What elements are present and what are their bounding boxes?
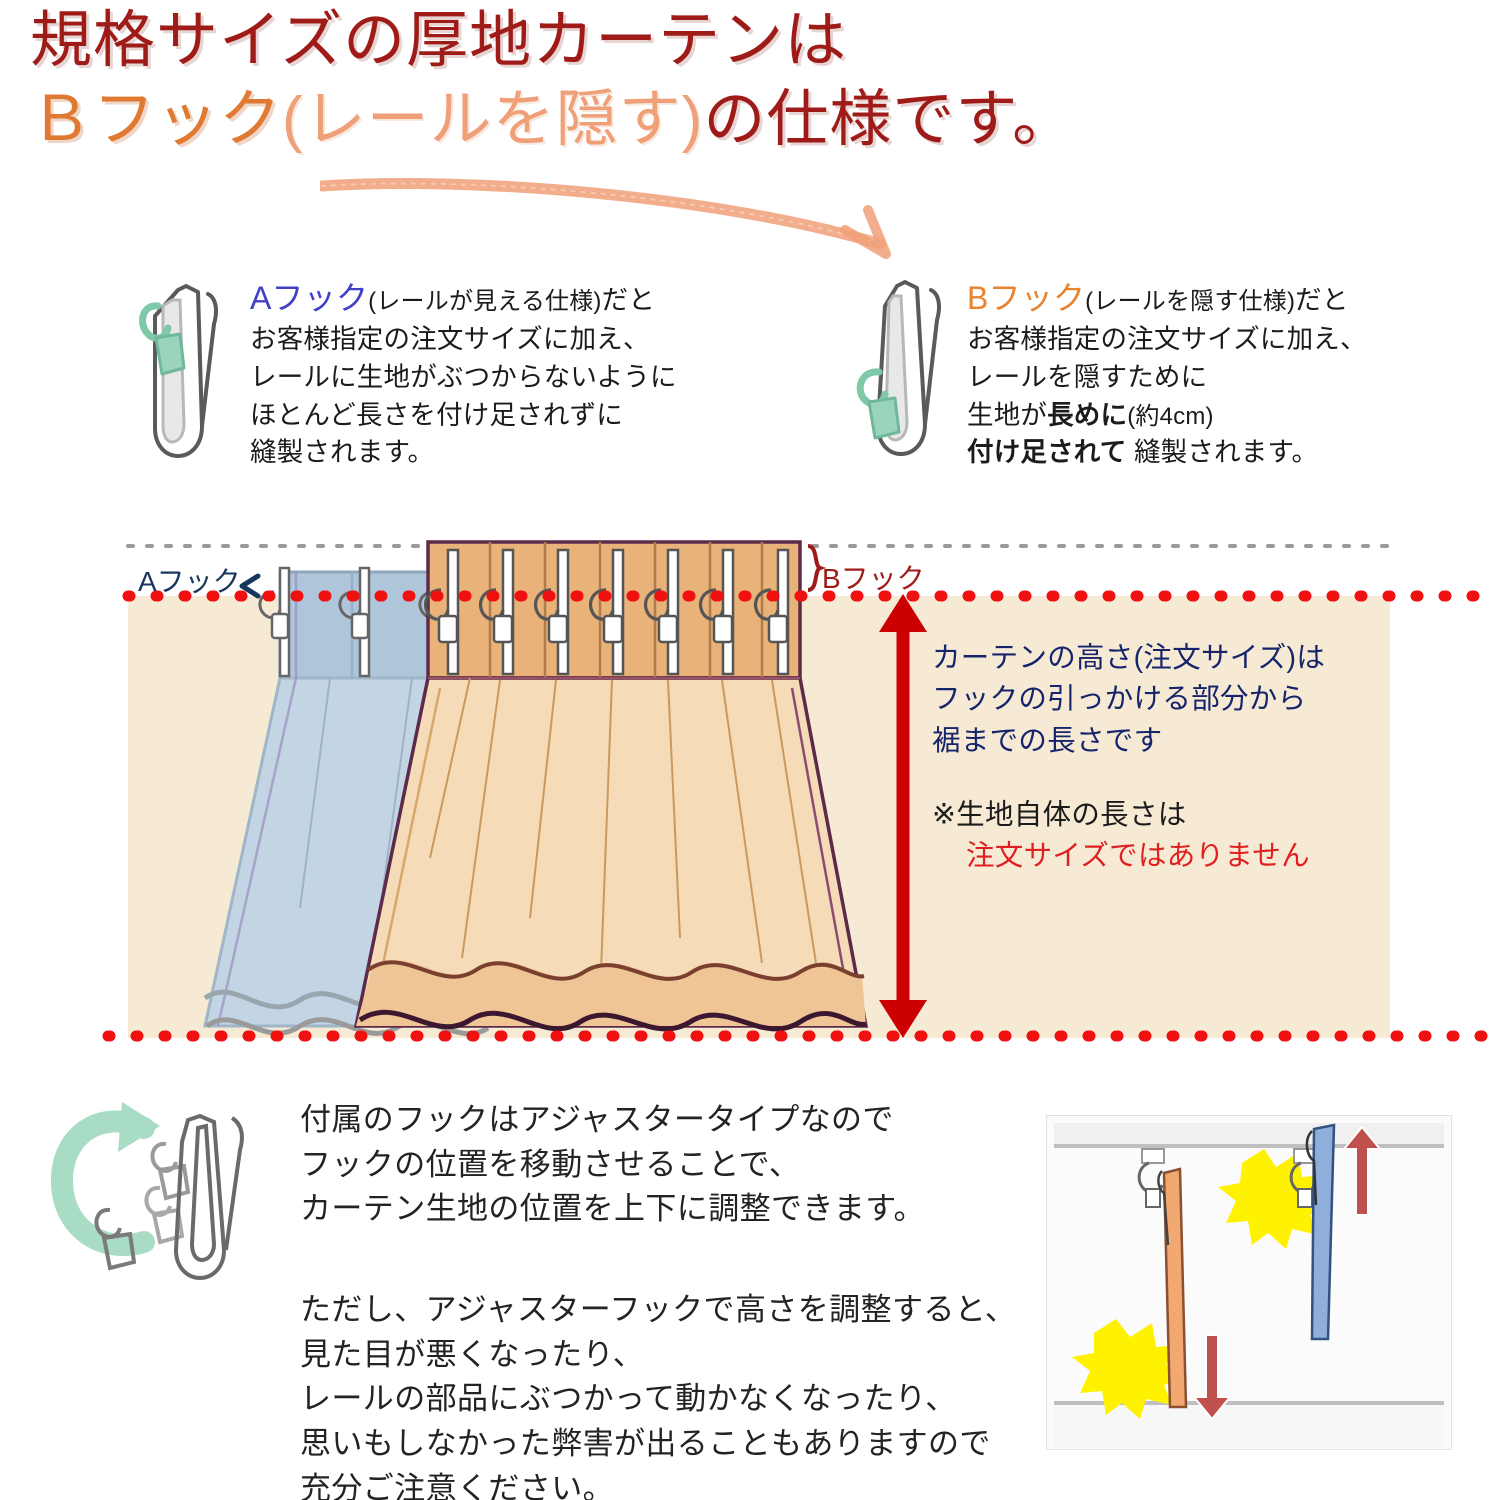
b-hook-heading-line: Bフック(レールを隠す仕様)だと xyxy=(967,276,1367,321)
a-hook-text-block: Aフック(レールが見える仕様)だと お客様指定の注文サイズに加え、 レールに生地… xyxy=(250,276,677,472)
warning-note-red-line: 注文サイズではありません xyxy=(932,836,1310,877)
adjuster-desc-line-3: カーテン生地の位置を上下に調整できます。 xyxy=(300,1187,925,1232)
b-hook-line-3-bold: 長めに xyxy=(1047,400,1127,430)
b-hook-line-4: 付け足されて 縫製されます。 xyxy=(967,434,1367,472)
page-title: 規格サイズの厚地カーテンは Ｂフック(レールを隠す)の仕様です。 xyxy=(30,8,1370,154)
measure-note: カーテンの高さ(注文サイズ)は フックの引っかける部分から 裾までの長さです xyxy=(932,638,1325,762)
title-b-hook-word: Ｂフック xyxy=(30,85,282,154)
adjuster-caution: ただし、アジャスターフックで高さを調整すると、 見た目が悪くなったり、 レールの… xyxy=(300,1288,1016,1500)
title-line-2-tail: の仕様です。 xyxy=(703,85,1075,154)
adjuster-caution-line-4: 思いもしなかった弊害が出ることもありますので xyxy=(300,1422,1016,1467)
adjuster-caution-line-3: レールの部品にぶつかって動かなくなったり、 xyxy=(300,1377,1016,1422)
b-hook-name: Bフック xyxy=(967,280,1085,316)
warning-note: ※生地自体の長さは 注文サイズではありません xyxy=(932,795,1310,878)
a-hook-line-4: 縫製されます。 xyxy=(250,434,677,472)
title-line-2: Ｂフック(レールを隠す)の仕様です。 xyxy=(30,87,1370,154)
b-hook-line-1: お客様指定の注文サイズに加え、 xyxy=(967,321,1367,359)
diagram-label-a-hook: Aフック xyxy=(138,560,241,600)
b-hook-icon xyxy=(845,276,953,466)
a-hook-icon xyxy=(128,276,236,466)
adjuster-caution-line-1: ただし、アジャスターフックで高さを調整すると、 xyxy=(300,1288,1016,1333)
diagram-label-b-hook: Bフック xyxy=(822,557,925,597)
b-hook-text-block: Bフック(レールを隠す仕様)だと お客様指定の注文サイズに加え、 レールを隠すた… xyxy=(967,276,1367,472)
adjuster-desc-line-2: フックの位置を移動させることで、 xyxy=(300,1143,925,1188)
a-hook-line-1: お客様指定の注文サイズに加え、 xyxy=(250,321,677,359)
b-hook-line-3-suffix: (約4cm) xyxy=(1127,403,1214,430)
warning-note-line-1: ※生地自体の長さは xyxy=(932,795,1310,836)
a-hook-tail: だと xyxy=(602,285,655,315)
adjuster-desc-line-1: 付属のフックはアジャスタータイプなので xyxy=(300,1098,925,1143)
a-hook-explanation: Aフック(レールが見える仕様)だと お客様指定の注文サイズに加え、 レールに生地… xyxy=(128,276,677,472)
rotate-adjust-icon xyxy=(48,1092,283,1307)
curved-arrow-to-b-hook-icon xyxy=(320,168,1020,278)
b-hook-explanation: Bフック(レールを隠す仕様)だと お客様指定の注文サイズに加え、 レールを隠すた… xyxy=(845,276,1367,472)
measure-note-line-2: フックの引っかける部分から xyxy=(932,679,1325,720)
b-hook-line-3-prefix: 生地が xyxy=(967,400,1047,430)
a-hook-line-3: ほとんど長さを付け足されずに xyxy=(250,397,677,435)
b-hook-line-4-bold: 付け足されて xyxy=(967,437,1126,467)
adjuster-caution-line-5: 充分ご注意ください。 xyxy=(300,1467,1016,1500)
a-hook-line-2: レールに生地がぶつからないように xyxy=(250,359,677,397)
b-hook-sub: (レールを隠す仕様) xyxy=(1085,288,1295,315)
a-hook-sub: (レールが見える仕様) xyxy=(368,288,601,315)
b-hook-line-3: 生地が長めに(約4cm) xyxy=(967,397,1367,435)
rail-clearance-demo xyxy=(1046,1115,1452,1450)
measure-note-line-3: 裾までの長さです xyxy=(932,721,1325,762)
infographic-root: 規格サイズの厚地カーテンは Ｂフック(レールを隠す)の仕様です。 Aフック(レー… xyxy=(0,0,1500,1500)
a-hook-name: Aフック xyxy=(250,280,368,316)
b-hook-line-4-rest: 縫製されます。 xyxy=(1134,437,1318,467)
title-line-1: 規格サイズの厚地カーテンは xyxy=(30,8,1370,75)
adjuster-description: 付属のフックはアジャスタータイプなので フックの位置を移動させることで、 カーテ… xyxy=(300,1098,925,1232)
title-b-hook-sub: (レールを隠す) xyxy=(282,85,703,154)
adjuster-caution-line-2: 見た目が悪くなったり、 xyxy=(300,1333,1016,1378)
b-hook-line-2: レールを隠すために xyxy=(967,359,1367,397)
b-hook-brace xyxy=(808,546,820,590)
b-hook-tail: だと xyxy=(1295,285,1348,315)
measure-note-line-1: カーテンの高さ(注文サイズ)は xyxy=(932,638,1325,679)
a-hook-heading-line: Aフック(レールが見える仕様)だと xyxy=(250,276,677,321)
